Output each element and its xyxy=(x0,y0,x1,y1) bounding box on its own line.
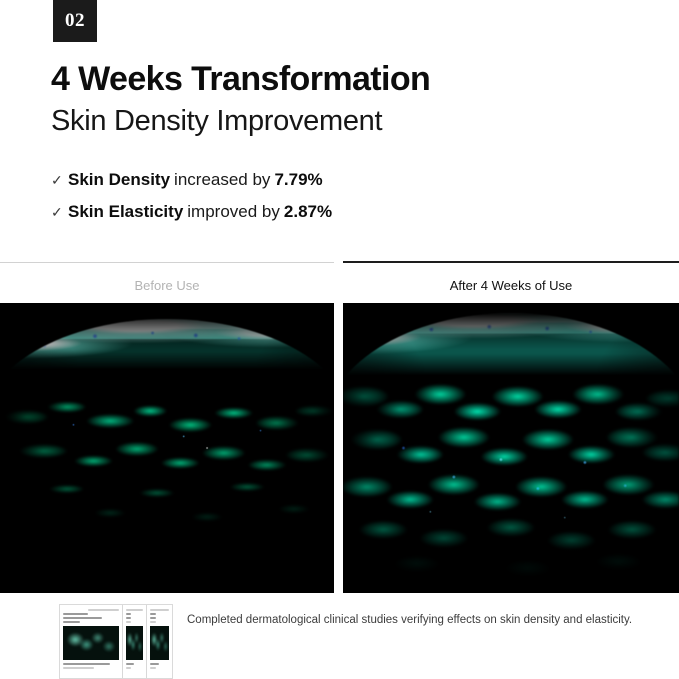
thumbnail-scan-image xyxy=(126,626,144,660)
results-list: ✓ Skin Density increased by 7.79% ✓ Skin… xyxy=(51,170,332,234)
thumbnail-scan-image xyxy=(150,626,169,660)
before-column-divider xyxy=(0,262,334,263)
after-scan-render xyxy=(343,303,679,593)
after-column-label: After 4 Weeks of Use xyxy=(343,278,679,293)
before-ultrasound-image xyxy=(0,303,334,593)
before-column-label: Before Use xyxy=(0,278,334,293)
before-scan-render xyxy=(0,303,334,593)
result-value: 2.87% xyxy=(284,202,332,222)
after-column-divider xyxy=(343,261,679,263)
thumbnail-column-2 xyxy=(123,605,148,678)
thumbnail-column-3 xyxy=(147,605,172,678)
check-icon: ✓ xyxy=(51,205,68,219)
thumbnail-column-main xyxy=(60,605,123,678)
footer-section: Completed dermatological clinical studie… xyxy=(0,600,679,679)
result-verb-label: increased by xyxy=(170,170,274,190)
section-number-label: 02 xyxy=(65,7,85,32)
list-item: ✓ Skin Density increased by 7.79% xyxy=(51,170,332,190)
check-icon: ✓ xyxy=(51,173,68,187)
result-verb-label: improved by xyxy=(183,202,284,222)
clinical-study-report-thumbnail xyxy=(59,604,173,679)
result-metric-label: Skin Elasticity xyxy=(68,202,183,222)
after-ultrasound-image xyxy=(343,303,679,593)
page-title: 4 Weeks Transformation xyxy=(51,60,430,99)
result-metric-label: Skin Density xyxy=(68,170,170,190)
footer-caption: Completed dermatological clinical studie… xyxy=(187,612,652,629)
list-item: ✓ Skin Elasticity improved by 2.87% xyxy=(51,202,332,222)
corner-vignette-layer xyxy=(0,303,334,593)
section-number-badge: 02 xyxy=(53,0,97,42)
corner-vignette-layer xyxy=(343,303,679,593)
page-subtitle: Skin Density Improvement xyxy=(51,105,382,138)
result-value: 7.79% xyxy=(274,170,322,190)
thumbnail-scan-image xyxy=(63,626,119,660)
